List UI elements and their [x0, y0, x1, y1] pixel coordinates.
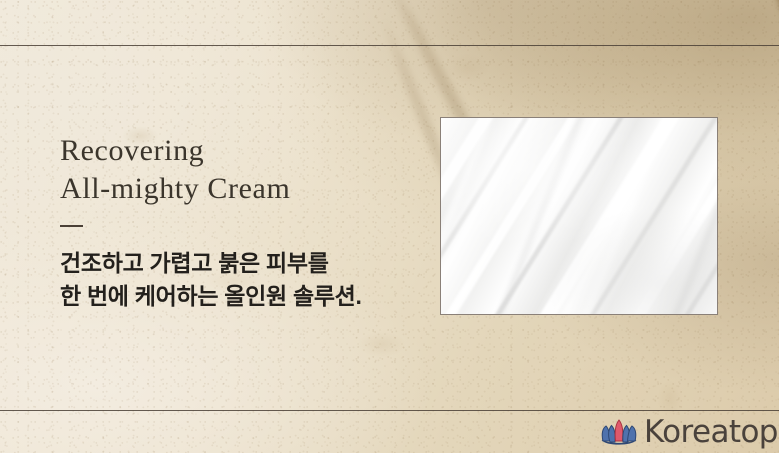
page-title: Recovering All-mighty Cream	[60, 132, 440, 208]
copy-block: Recovering All-mighty Cream 건조하고 가렵고 붉은 …	[60, 132, 440, 313]
top-divider-line	[0, 45, 779, 46]
title-divider-dash	[60, 225, 83, 227]
brand-name: Koreatop	[644, 417, 778, 448]
cream-sheen-layer	[441, 118, 717, 314]
lotus-flower-icon	[600, 417, 638, 447]
subheadline: 건조하고 가렵고 붉은 피부를 한 번에 케어하는 올인원 솔루션.	[60, 247, 440, 313]
brand-logo[interactable]: Koreatop	[600, 411, 778, 453]
product-texture-image	[440, 117, 718, 315]
promo-banner: Recovering All-mighty Cream 건조하고 가렵고 붉은 …	[0, 0, 779, 453]
